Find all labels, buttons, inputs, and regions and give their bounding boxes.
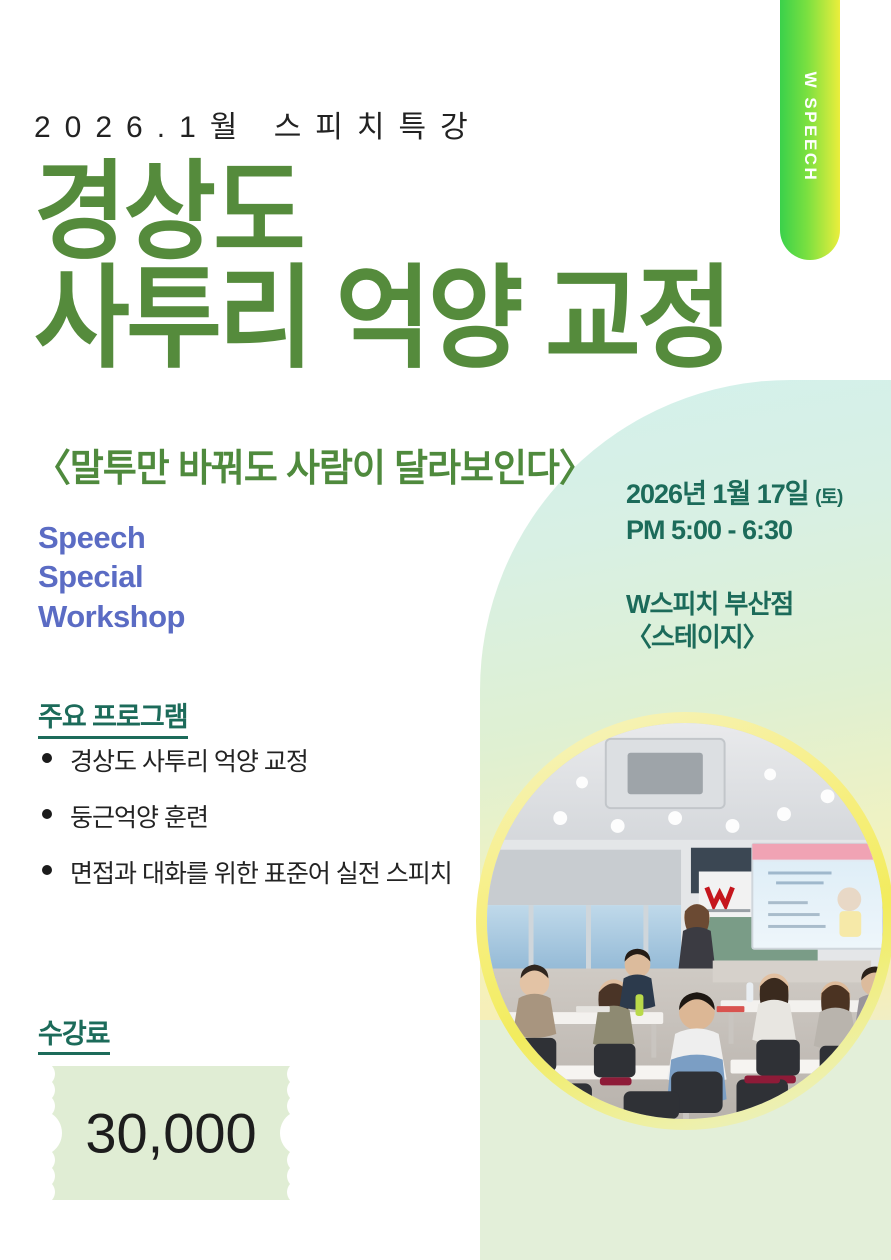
english-line-2: Special: [38, 557, 185, 596]
schedule-day-of-week: (토): [815, 487, 842, 508]
poster-root: W SPEECH 2026.1월 스피치특강 경상도 사투리 억양 교정 〈말투…: [0, 0, 891, 1260]
schedule-date-row: 2026년 1월 17일 (토): [626, 477, 842, 513]
bullet-icon: [42, 809, 52, 819]
english-line-1: Speech: [38, 518, 185, 557]
brand-tab-label: W SPEECH: [800, 71, 820, 182]
venue-line-1: W스피치 부산점: [626, 588, 793, 621]
price-heading: 수강료: [38, 1012, 110, 1055]
program-heading: 주요 프로그램: [38, 695, 188, 739]
classroom-photo-illustration: [487, 723, 883, 1119]
english-line-3: Workshop: [38, 597, 185, 636]
schedule-date: 2026년 1월 17일: [626, 479, 809, 509]
price-amount: 30,000: [44, 1101, 298, 1166]
page-title: 경상도 사투리 억양 교정: [34, 160, 754, 373]
price-ticket: 30,000: [44, 1066, 298, 1200]
classroom-photo: [487, 723, 883, 1119]
eyebrow-text: 2026.1월 스피치특강: [34, 102, 482, 146]
list-item: 면접과 대화를 위한 표준어 실전 스피치: [38, 854, 452, 890]
program-item-label: 경상도 사투리 억양 교정: [70, 748, 308, 776]
photo-ring: [476, 712, 891, 1130]
list-item: 둥근억양 훈련: [38, 798, 452, 834]
program-list: 경상도 사투리 억양 교정 둥근억양 훈련 면접과 대화를 위한 표준어 실전 …: [38, 742, 452, 910]
program-item-label: 면접과 대화를 위한 표준어 실전 스피치: [70, 860, 452, 888]
list-item: 경상도 사투리 억양 교정: [38, 742, 452, 778]
english-heading-stack: Speech Special Workshop: [38, 518, 185, 636]
title-line-2: 사투리 억양 교정: [34, 265, 704, 374]
bullet-icon: [42, 753, 52, 763]
title-line-1: 경상도: [34, 160, 704, 265]
schedule-time: PM 5:00 - 6:30: [626, 513, 842, 549]
schedule-datetime: 2026년 1월 17일 (토) PM 5:00 - 6:30: [626, 477, 842, 548]
subtitle-text: 〈말투만 바꿔도 사람이 달라보인다〉: [34, 437, 595, 492]
bullet-icon: [42, 865, 52, 875]
venue-block: W스피치 부산점 〈스테이지〉: [626, 588, 793, 654]
venue-line-2: 〈스테이지〉: [626, 621, 793, 654]
brand-tab: W SPEECH: [780, 0, 840, 260]
program-item-label: 둥근억양 훈련: [70, 804, 208, 832]
